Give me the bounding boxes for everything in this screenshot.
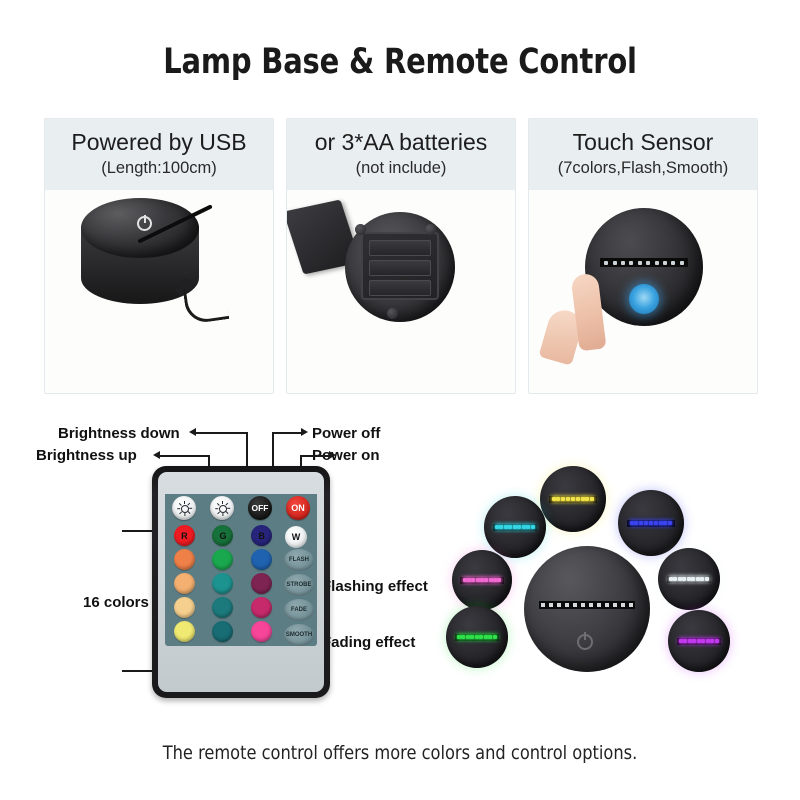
label-brightness-down: Brightness down — [58, 425, 180, 442]
label-fading-effect: Fading effect — [322, 634, 415, 651]
color-button-4[interactable] — [212, 549, 233, 570]
feature-card-row: Powered by USB (Length:100cm) or 3*AA ba… — [44, 118, 758, 394]
color-button-9[interactable] — [174, 597, 195, 618]
power-on-button[interactable]: ON — [286, 496, 310, 520]
orb-green — [446, 606, 508, 668]
led-strip — [627, 520, 675, 527]
sun-icon — [178, 502, 191, 515]
battery-bay — [361, 232, 439, 300]
remote-face: OFF ON RGB FLASHSTROBEFADESMOOTH W — [158, 472, 324, 692]
card-title-batteries: or 3*AA batteries — [293, 129, 509, 155]
photo-battery-compartment — [287, 190, 515, 393]
power-icon — [577, 634, 593, 650]
power-off-button[interactable]: OFF — [248, 496, 272, 520]
card-header-batteries: or 3*AA batteries (not include) — [287, 119, 515, 190]
battery-slot — [369, 260, 431, 276]
led-strip — [677, 638, 722, 645]
photo-touch-sensor — [529, 190, 757, 393]
flash-button[interactable]: FLASH — [284, 549, 314, 571]
card-title-touch-sensor: Touch Sensor — [535, 129, 751, 155]
color-button-6[interactable] — [174, 573, 195, 594]
touch-sensor-button-glow — [629, 284, 659, 314]
leader-line-power-off — [272, 432, 302, 434]
photo-usb-lamp-base — [45, 190, 273, 393]
card-header-touch-sensor: Touch Sensor (7colors,Flash,Smooth) — [529, 119, 757, 190]
smooth-button[interactable]: SMOOTH — [284, 624, 314, 646]
touch-base-disc — [585, 208, 703, 326]
color-button-7[interactable] — [212, 573, 233, 594]
orb-yellow — [540, 466, 606, 532]
color-button-13[interactable] — [212, 621, 233, 642]
usb-base-illustration — [45, 190, 273, 393]
led-strip — [600, 258, 688, 267]
orb-pink — [452, 550, 512, 610]
color-button-g[interactable]: G — [212, 525, 233, 546]
card-subtitle-usb: (Length:100cm) — [51, 159, 267, 178]
label-brightness-up: Brightness up — [36, 447, 137, 464]
arrow-power-off — [301, 428, 308, 436]
color-button-8[interactable] — [251, 573, 272, 594]
feature-card-touch-sensor: Touch Sensor (7colors,Flash,Smooth) — [528, 118, 758, 394]
color-button-10[interactable] — [212, 597, 233, 618]
remote-control: OFF ON RGB FLASHSTROBEFADESMOOTH W — [152, 466, 330, 698]
label-flashing-effect: Flashing effect — [322, 578, 428, 595]
orb-purple — [668, 610, 730, 672]
leader-line-brightness-up — [160, 455, 210, 457]
color-button-14[interactable] — [251, 621, 272, 642]
color-button-grid: RGB — [165, 524, 281, 646]
leader-line-brightness-down — [196, 432, 248, 434]
led-strip — [549, 496, 597, 503]
bottom-caption: The remote control offers more colors an… — [20, 742, 780, 764]
color-button-12[interactable] — [174, 621, 195, 642]
arrow-power-on — [329, 451, 336, 459]
power-icon — [137, 216, 152, 231]
card-title-usb: Powered by USB — [51, 129, 267, 155]
led-strip — [667, 576, 712, 583]
usb-cable — [183, 283, 230, 324]
white-color-button[interactable]: W — [285, 526, 307, 548]
card-subtitle-touch-sensor: (7colors,Flash,Smooth) — [535, 159, 751, 178]
lamp-color-cluster — [440, 458, 800, 700]
fade-button[interactable]: FADE — [284, 599, 314, 621]
orb-blue — [618, 490, 684, 556]
page-title: Lamp Base & Remote Control — [32, 42, 768, 82]
leader-line-power-on — [300, 455, 330, 457]
strobe-button[interactable]: STROBE — [284, 574, 314, 596]
orb-white — [658, 548, 720, 610]
led-strip — [493, 524, 538, 531]
led-strip — [455, 634, 500, 641]
label-power-off: Power off — [312, 425, 380, 442]
main-led-strip — [539, 601, 635, 609]
main-lamp-base — [524, 546, 650, 672]
arrow-brightness-up — [153, 451, 160, 459]
infographic-page: Lamp Base & Remote Control Powered by US… — [0, 0, 800, 800]
brightness-down-button[interactable] — [210, 496, 234, 520]
color-button-5[interactable] — [251, 549, 272, 570]
battery-slot — [369, 240, 431, 256]
arrow-brightness-down — [189, 428, 196, 436]
led-strip — [460, 577, 503, 584]
color-button-b[interactable]: B — [251, 525, 272, 546]
white-button-slot: W — [281, 525, 311, 549]
orb-cyan — [484, 496, 546, 558]
label-16-colors: 16 colors — [83, 594, 149, 611]
remote-top-button-row: OFF ON — [165, 494, 317, 522]
sun-icon — [216, 502, 229, 515]
color-button-3[interactable] — [174, 549, 195, 570]
feature-card-usb: Powered by USB (Length:100cm) — [44, 118, 274, 394]
battery-slot — [369, 280, 431, 296]
color-button-r[interactable]: R — [174, 525, 195, 546]
brightness-up-button[interactable] — [172, 496, 196, 520]
feature-card-batteries: or 3*AA batteries (not include) — [286, 118, 516, 394]
lamp-base-top — [81, 198, 199, 258]
card-header-usb: Powered by USB (Length:100cm) — [45, 119, 273, 190]
card-subtitle-batteries: (not include) — [293, 159, 509, 178]
color-button-11[interactable] — [251, 597, 272, 618]
